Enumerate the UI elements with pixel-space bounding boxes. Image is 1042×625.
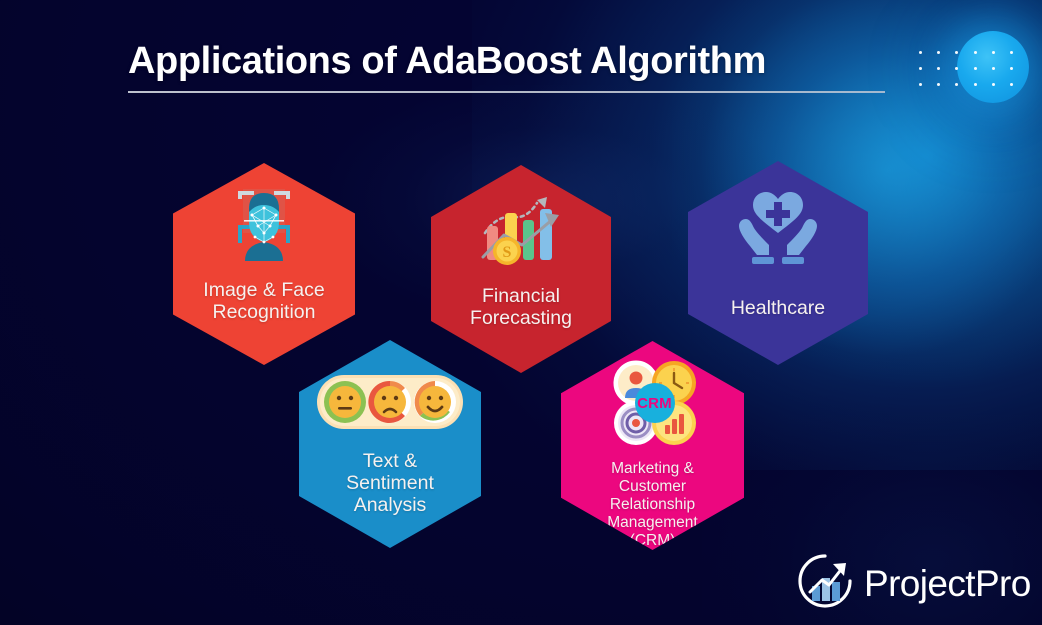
hexagon-text-sentiment-analysis[interactable]: Text & Sentiment Analysis bbox=[299, 340, 481, 548]
slide-canvas: Applications of AdaBoost Algorithm bbox=[0, 0, 1042, 625]
projectpro-wordmark: ProjectPro bbox=[864, 563, 1031, 605]
dot-grid-icon bbox=[911, 44, 1021, 92]
hexagon-crm[interactable]: CRM Marketing & Customer Relationship Ma… bbox=[561, 341, 744, 550]
hexagon-label-healthcare: Healthcare bbox=[731, 298, 825, 320]
hands-holding-heart-icon bbox=[733, 189, 823, 276]
hexagon-image-face-recognition[interactable]: Image & Face Recognition bbox=[173, 163, 355, 365]
hexagon-label-text-sentiment-analysis: Text & Sentiment Analysis bbox=[346, 451, 434, 516]
hexagon-label-crm: Marketing & Customer Relationship Manage… bbox=[607, 460, 697, 550]
crm-circles-icon: CRM bbox=[605, 357, 701, 454]
bar-chart-growth-icon: S bbox=[475, 193, 567, 272]
header-decoration bbox=[905, 28, 1035, 108]
sentiment-faces-icon bbox=[316, 374, 464, 435]
projectpro-arrow-chart-icon bbox=[796, 552, 854, 615]
face-recognition-icon bbox=[221, 185, 307, 270]
page-title: Applications of AdaBoost Algorithm bbox=[128, 40, 766, 83]
hexagon-label-financial-forecasting: Financial Forecasting bbox=[470, 286, 572, 330]
svg-text:S: S bbox=[503, 244, 512, 261]
hexagon-healthcare[interactable]: Healthcare bbox=[688, 161, 868, 365]
projectpro-logo[interactable]: ProjectPro bbox=[796, 552, 1031, 615]
hexagon-label-image-face-recognition: Image & Face Recognition bbox=[203, 280, 324, 324]
title-underline bbox=[128, 91, 885, 93]
hexagon-financial-forecasting[interactable]: S Financial Forecasting bbox=[431, 165, 611, 373]
